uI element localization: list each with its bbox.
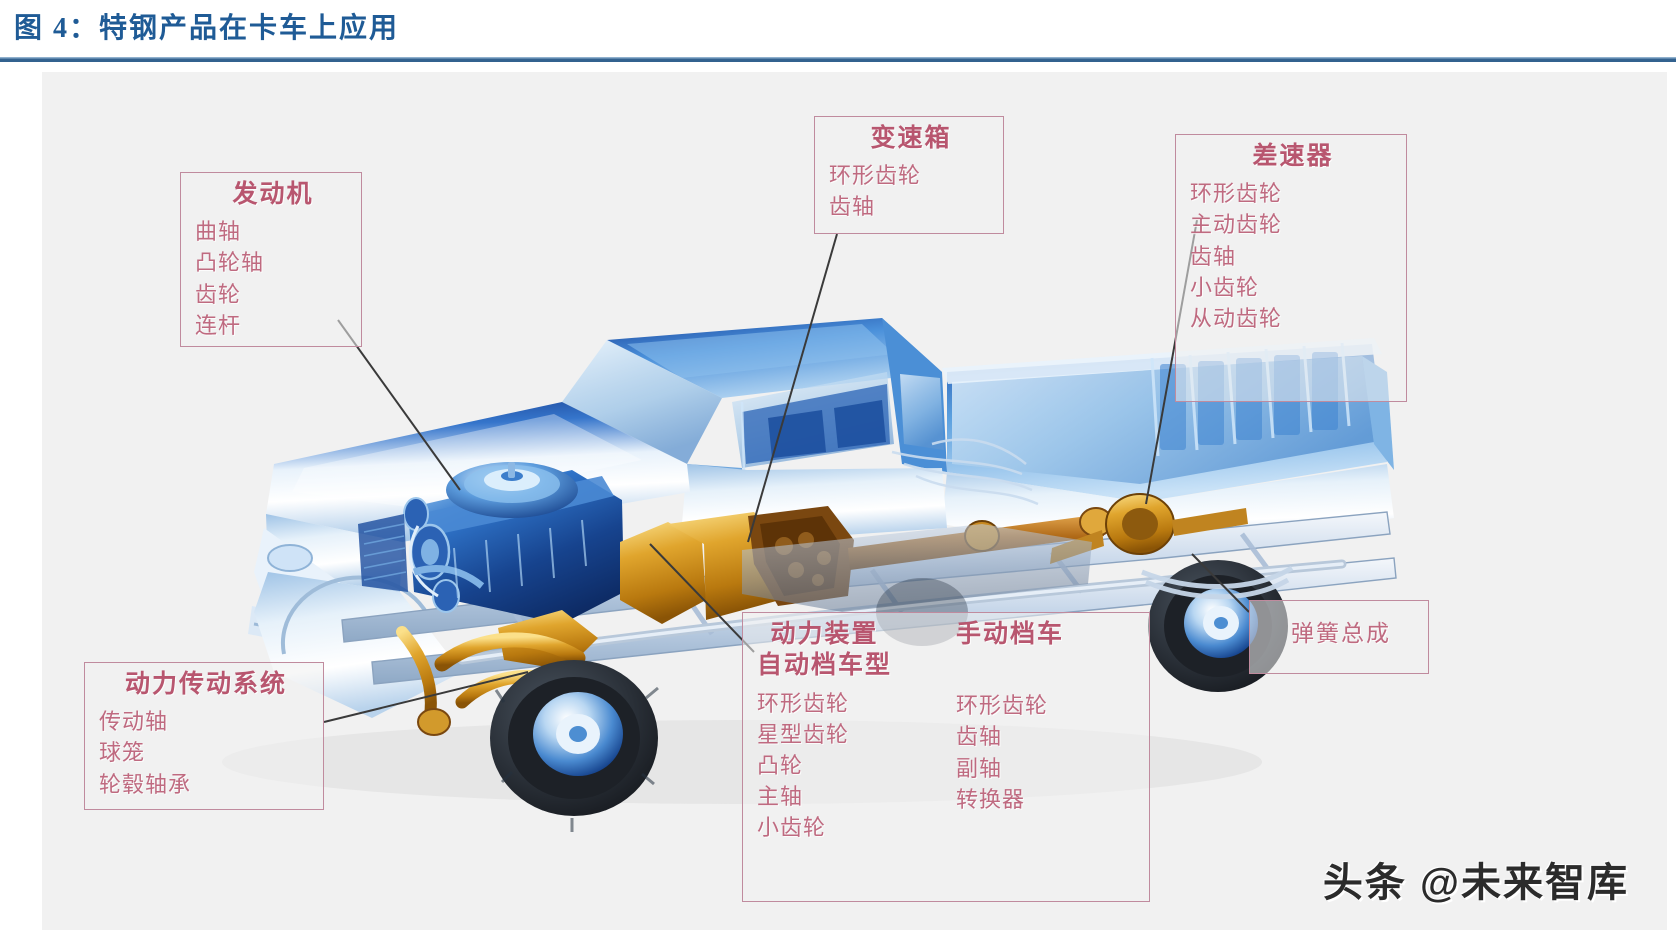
list-item: 副轴	[956, 753, 1064, 784]
callout-gearsets-auto-list: 环形齿轮 星型齿轮 凸轮 主轴 小齿轮	[757, 688, 892, 844]
callout-gearsets-auto-title-line2: 自动档车型	[757, 650, 892, 681]
callout-gearsets: 动力装置 自动档车型 环形齿轮 星型齿轮 凸轮 主轴 小齿轮 手动档车 环形齿轮…	[742, 612, 1150, 902]
callout-gearsets-manual-column: 手动档车 环形齿轮 齿轴 副轴 转换器	[956, 619, 1064, 893]
list-item: 环形齿轮	[956, 690, 1064, 721]
list-item: 从动齿轮	[1190, 303, 1396, 334]
callout-engine-list: 曲轴 凸轮轴 齿轮 连杆	[195, 216, 351, 341]
list-item: 曲轴	[195, 216, 351, 247]
list-item: 环形齿轮	[1190, 178, 1396, 209]
list-item: 小齿轮	[757, 812, 892, 843]
callout-powertrain-title: 动力传动系统	[99, 669, 313, 700]
list-item: 凸轮轴	[195, 247, 351, 278]
callout-spring-assembly-title: 弹簧总成	[1264, 619, 1418, 648]
figure-image-plate: 发动机 曲轴 凸轮轴 齿轮 连杆 变速箱 环形齿轮 齿轴 差速器 环形齿轮 主动…	[42, 72, 1667, 930]
list-item: 传动轴	[99, 706, 313, 737]
callout-transmission-list: 环形齿轮 齿轴	[829, 160, 993, 222]
callout-spring-assembly: 弹簧总成	[1249, 600, 1429, 674]
list-item: 连杆	[195, 310, 351, 341]
list-item: 环形齿轮	[757, 688, 892, 719]
list-item: 齿轴	[829, 191, 993, 222]
list-item: 齿轮	[195, 279, 351, 310]
callout-differential: 差速器 环形齿轮 主动齿轮 齿轴 小齿轮 从动齿轮	[1175, 134, 1407, 402]
list-item: 主轴	[757, 781, 892, 812]
list-item: 主动齿轮	[1190, 209, 1396, 240]
callout-transmission-title: 变速箱	[829, 123, 993, 154]
callout-engine: 发动机 曲轴 凸轮轴 齿轮 连杆	[180, 172, 362, 347]
list-item: 小齿轮	[1190, 272, 1396, 303]
front-wheel	[490, 660, 658, 832]
list-item: 凸轮	[757, 750, 892, 781]
list-item: 环形齿轮	[829, 160, 993, 191]
source-watermark: 头条 @未来智库	[1323, 850, 1629, 908]
callout-gearsets-manual-title: 手动档车	[956, 619, 1064, 650]
callout-engine-title: 发动机	[195, 179, 351, 210]
list-item: 轮毂轴承	[99, 769, 313, 800]
list-item: 星型齿轮	[757, 719, 892, 750]
callout-gearsets-auto-title-line1: 动力装置	[757, 619, 892, 650]
list-item: 转换器	[956, 784, 1064, 815]
list-item: 齿轴	[1190, 241, 1396, 272]
callout-transmission: 变速箱 环形齿轮 齿轴	[814, 116, 1004, 234]
figure-title: 图 4：特钢产品在卡车上应用	[14, 6, 399, 46]
callout-differential-title: 差速器	[1190, 141, 1396, 172]
callout-differential-list: 环形齿轮 主动齿轮 齿轴 小齿轮 从动齿轮	[1190, 178, 1396, 334]
list-item: 球笼	[99, 737, 313, 768]
callout-powertrain-list: 传动轴 球笼 轮毂轴承	[99, 706, 313, 800]
callout-gearsets-manual-list: 环形齿轮 齿轴 副轴 转换器	[956, 690, 1064, 815]
callout-powertrain: 动力传动系统 传动轴 球笼 轮毂轴承	[84, 662, 324, 810]
title-underline-rule	[0, 57, 1676, 62]
list-item: 齿轴	[956, 721, 1064, 752]
callout-gearsets-auto-column: 动力装置 自动档车型 环形齿轮 星型齿轮 凸轮 主轴 小齿轮	[757, 619, 892, 893]
